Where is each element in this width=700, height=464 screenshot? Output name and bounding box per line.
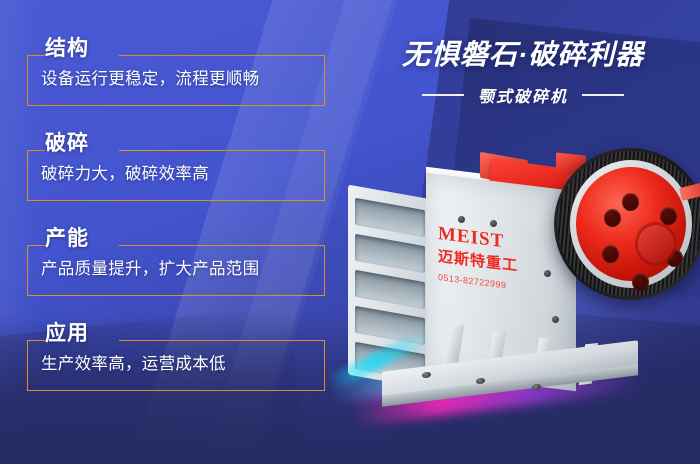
feature-description: 生产效率高，运营成本低 bbox=[41, 355, 226, 375]
flywheel-hole bbox=[602, 245, 619, 263]
headline-subtitle: 颚式破碎机 bbox=[478, 83, 568, 107]
subtitle-rule-right bbox=[582, 94, 624, 96]
body-bolt bbox=[458, 216, 465, 223]
headline-block: 无惧磐石·破碎利器 颚式破碎机 bbox=[358, 40, 688, 107]
feature-description: 破碎力大，破碎效率高 bbox=[41, 165, 209, 185]
jaw-crusher-illustration: MEIST 迈斯特重工 0513-82722999 bbox=[330, 120, 700, 440]
feature-description: 产品质量提升，扩大产品范围 bbox=[41, 260, 259, 280]
feature-list: 结构 设备运行更稳定，流程更顺畅 破碎 破碎力大，破碎效率高 产能 产品质量提升… bbox=[0, 0, 345, 464]
feature-title: 产能 bbox=[41, 228, 93, 249]
subtitle-rule-left bbox=[422, 94, 464, 96]
body-bolt bbox=[552, 316, 559, 323]
feature-description: 设备运行更稳定，流程更顺畅 bbox=[41, 70, 259, 90]
feature-title: 破碎 bbox=[41, 133, 93, 154]
feature-title: 应用 bbox=[41, 323, 93, 344]
flywheel-hole bbox=[604, 209, 621, 227]
flywheel-hole bbox=[632, 273, 649, 291]
feature-item-crushing: 破碎 破碎力大，破碎效率高 bbox=[27, 139, 325, 201]
headline-subtitle-row: 颚式破碎机 bbox=[358, 83, 688, 107]
feature-item-structure: 结构 设备运行更稳定，流程更顺畅 bbox=[27, 44, 325, 106]
headline-title: 无惧磐石·破碎利器 bbox=[358, 40, 688, 71]
flywheel-disc bbox=[576, 167, 686, 281]
flywheel-hub bbox=[638, 225, 674, 263]
feature-title: 结构 bbox=[41, 38, 93, 59]
feature-item-application: 应用 生产效率高，运营成本低 bbox=[27, 329, 325, 391]
flywheel-hole bbox=[622, 193, 639, 211]
feature-item-capacity: 产能 产品质量提升，扩大产品范围 bbox=[27, 234, 325, 296]
flywheel bbox=[554, 148, 700, 300]
flywheel-hole bbox=[660, 207, 677, 225]
body-bolt bbox=[490, 220, 497, 227]
